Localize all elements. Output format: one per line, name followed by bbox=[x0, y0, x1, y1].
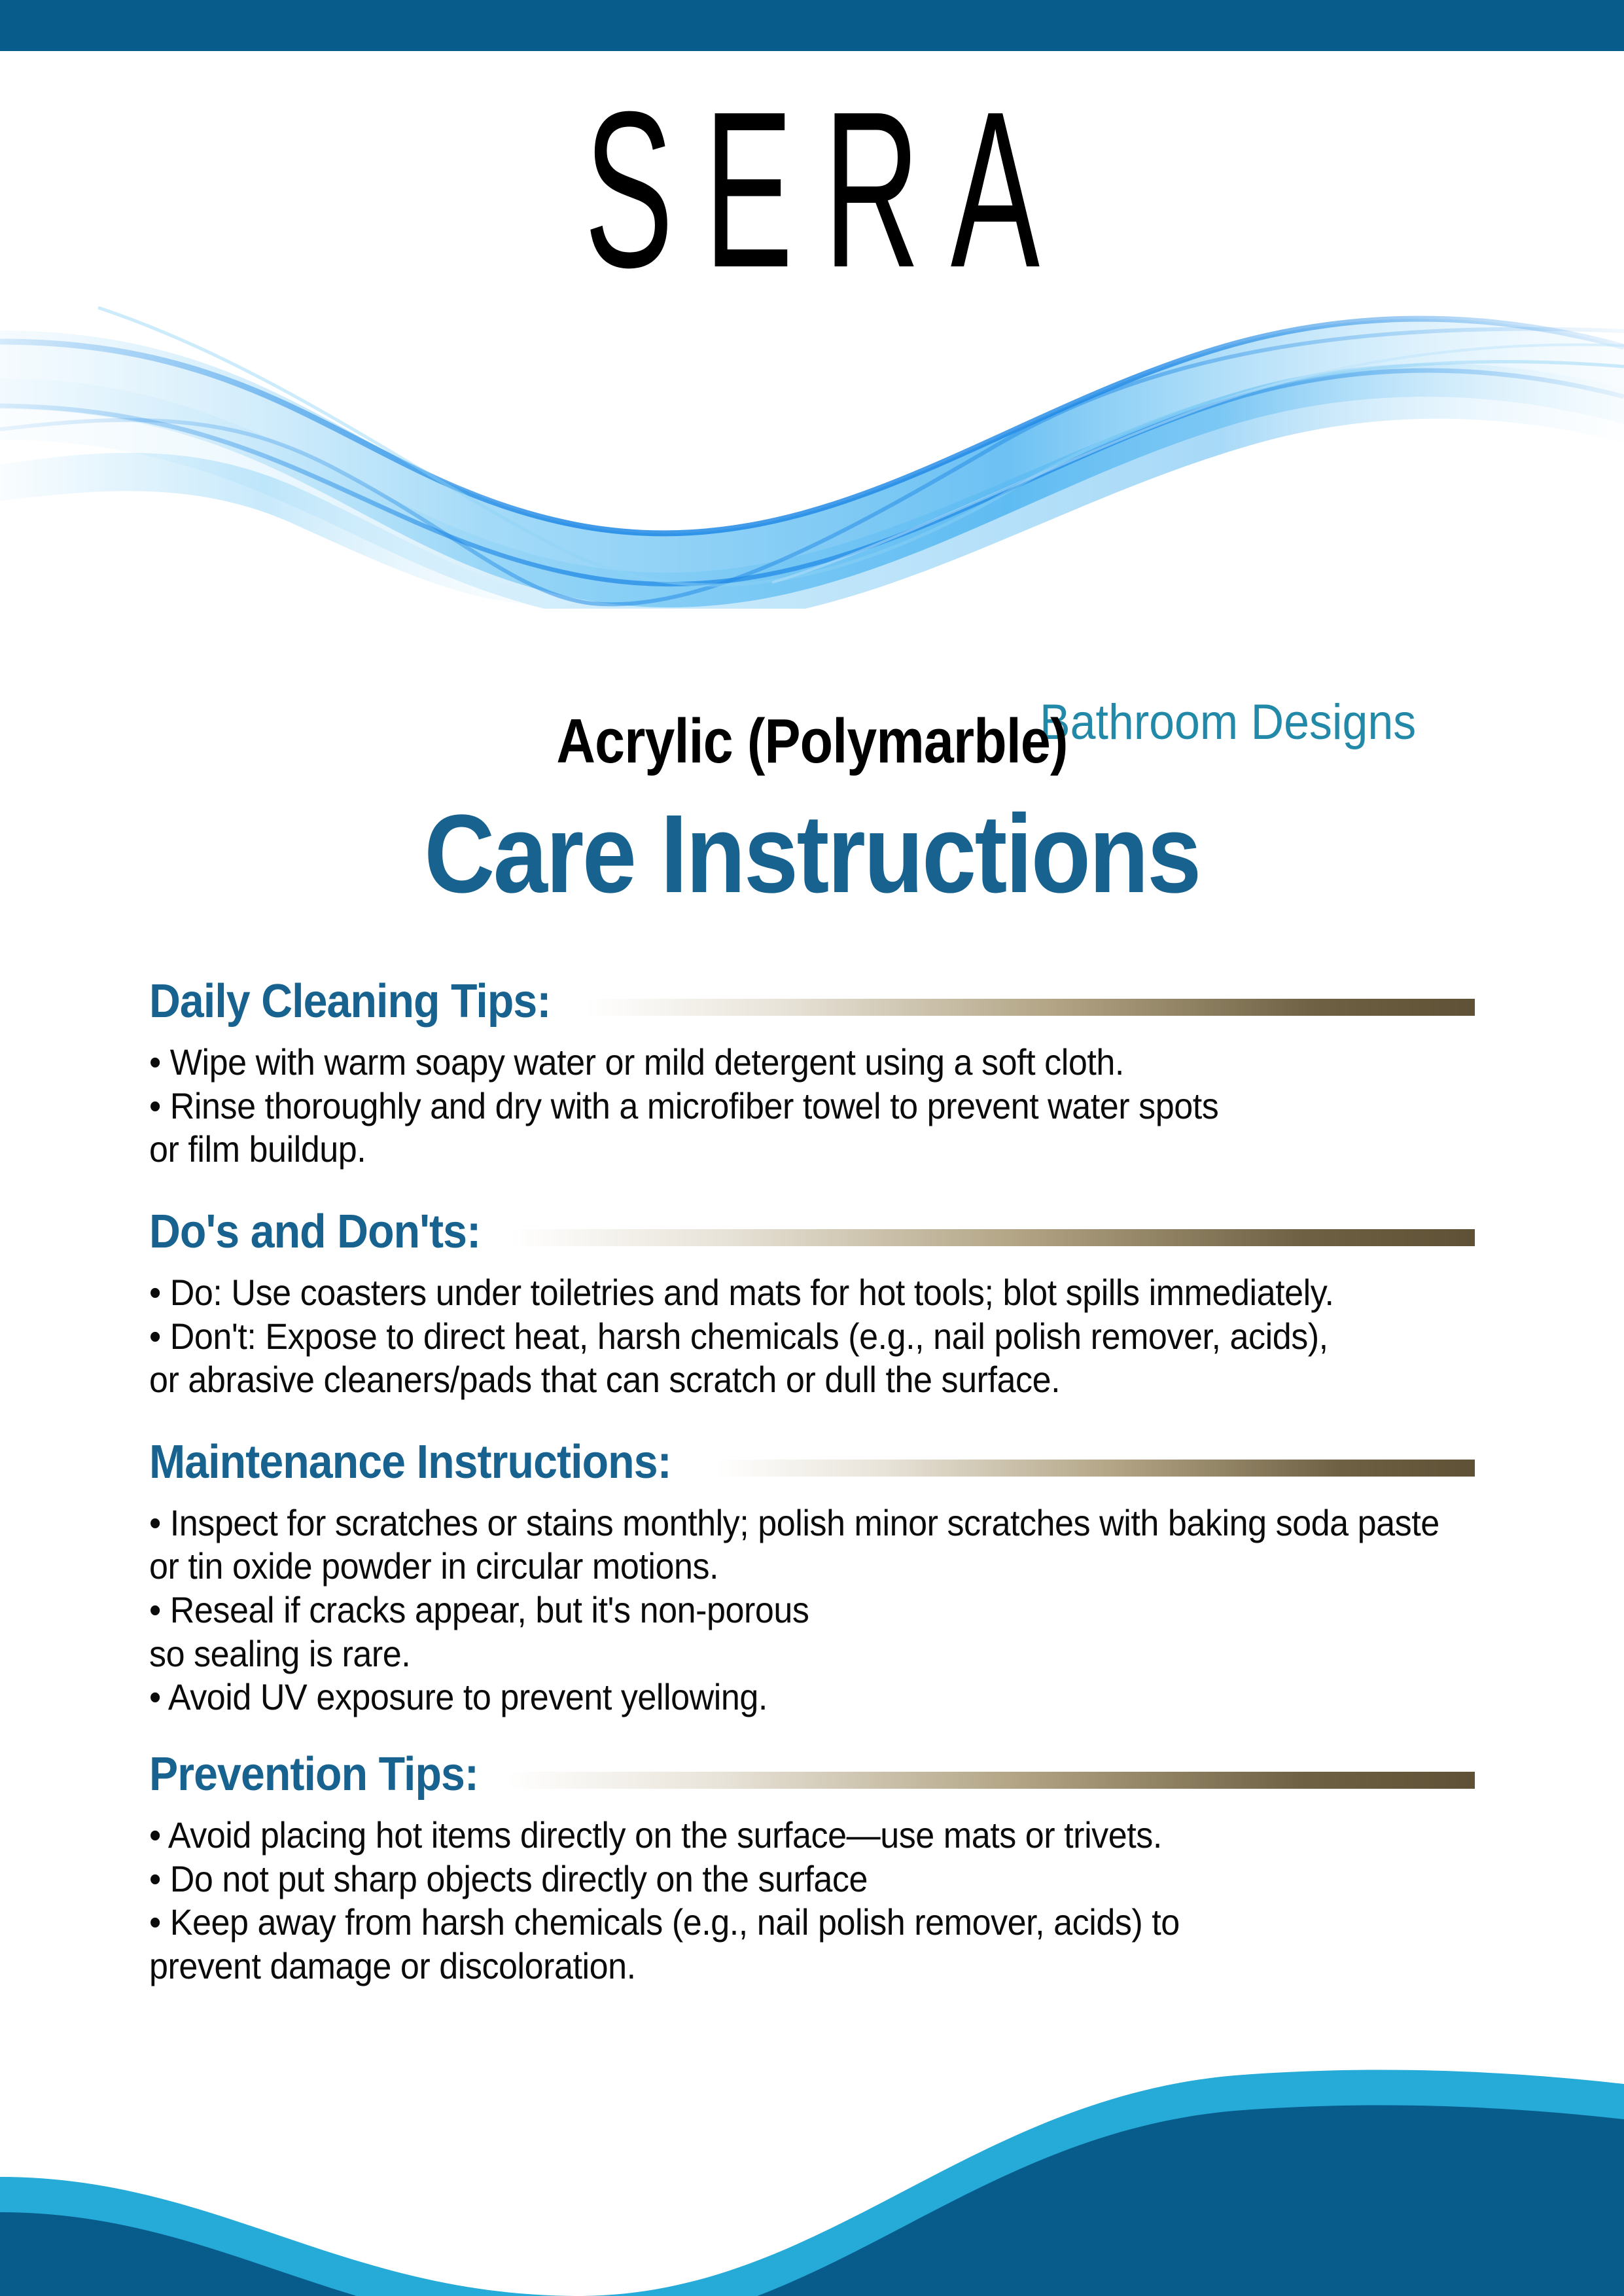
bullet-line: • Avoid UV exposure to prevent yellowing… bbox=[149, 1676, 1382, 1719]
bullet-list: • Do: Use coasters under toiletries and … bbox=[149, 1271, 1475, 1402]
wave-strand-5 bbox=[772, 345, 1624, 583]
section-rule bbox=[586, 999, 1475, 1016]
page-subtitle: Acrylic (Polymarble) bbox=[114, 706, 1511, 778]
spacer bbox=[149, 1402, 1475, 1436]
bullet-line: • Wipe with warm soapy water or mild det… bbox=[149, 1041, 1382, 1085]
wave-ribbon-left bbox=[0, 453, 589, 605]
section-maintenance-instructions: Maintenance Instructions: • Inspect for … bbox=[149, 1436, 1475, 1719]
bullet-line: • Don't: Expose to direct heat, harsh ch… bbox=[149, 1315, 1382, 1359]
care-instructions-content: Daily Cleaning Tips: • Wipe with warm so… bbox=[149, 975, 1475, 1988]
section-header: Do's and Don'ts: bbox=[149, 1206, 1475, 1255]
spacer bbox=[149, 1719, 1475, 1748]
page-title: Care Instructions bbox=[97, 798, 1527, 910]
bullet-line: • Rinse thoroughly and dry with a microf… bbox=[149, 1085, 1382, 1128]
bullet-line: prevent damage or discoloration. bbox=[149, 1945, 1382, 1988]
section-rule bbox=[716, 1460, 1475, 1477]
wave-strand-2 bbox=[0, 370, 1624, 584]
bullet-line: • Avoid placing hot items directly on th… bbox=[149, 1814, 1382, 1857]
decorative-wave-graphic bbox=[0, 268, 1624, 609]
bullet-list: • Inspect for scratches or stains monthl… bbox=[149, 1501, 1475, 1719]
section-header: Prevention Tips: bbox=[149, 1748, 1475, 1798]
wave-ribbon-secondary bbox=[0, 363, 1624, 609]
bullet-line: • Inspect for scratches or stains monthl… bbox=[149, 1501, 1382, 1545]
bullet-line: • Do not put sharp objects directly on t… bbox=[149, 1857, 1382, 1901]
wave-ribbon-primary bbox=[0, 319, 1624, 607]
bullet-line: • Do: Use coasters under toiletries and … bbox=[149, 1271, 1382, 1315]
bullet-list: • Wipe with warm soapy water or mild det… bbox=[149, 1041, 1475, 1172]
brand-wordmark: SERA bbox=[325, 79, 1299, 301]
spacer bbox=[149, 1172, 1475, 1206]
bullet-line: or film buildup. bbox=[149, 1128, 1382, 1172]
section-header: Daily Cleaning Tips: bbox=[149, 975, 1475, 1025]
wave-strand-4 bbox=[98, 308, 1624, 585]
bullet-line: or abrasive cleaners/pads that can scrat… bbox=[149, 1358, 1382, 1402]
section-prevention-tips: Prevention Tips: • Avoid placing hot ite… bbox=[149, 1748, 1475, 1988]
top-accent-bar bbox=[0, 0, 1624, 51]
footer-wave-graphic bbox=[0, 2021, 1624, 2296]
bullet-list: • Avoid placing hot items directly on th… bbox=[149, 1814, 1475, 1988]
section-header: Maintenance Instructions: bbox=[149, 1436, 1475, 1486]
wave-strand-3 bbox=[0, 329, 1624, 605]
section-rule bbox=[509, 1229, 1475, 1246]
section-title: Maintenance Instructions: bbox=[149, 1439, 671, 1486]
section-title: Prevention Tips: bbox=[149, 1751, 478, 1798]
bullet-line: • Keep away from harsh chemicals (e.g., … bbox=[149, 1901, 1382, 1945]
bullet-line: so sealing is rare. bbox=[149, 1632, 1382, 1676]
section-rule bbox=[507, 1772, 1475, 1789]
section-title: Do's and Don'ts: bbox=[149, 1208, 480, 1255]
section-daily-cleaning-tips: Daily Cleaning Tips: • Wipe with warm so… bbox=[149, 975, 1475, 1172]
section-title: Daily Cleaning Tips: bbox=[149, 978, 550, 1025]
section-dos-and-donts: Do's and Don'ts: • Do: Use coasters unde… bbox=[149, 1206, 1475, 1402]
bullet-line: • Reseal if cracks appear, but it's non-… bbox=[149, 1588, 1382, 1632]
brand-logo-block: SERA bbox=[0, 79, 1624, 655]
wave-strand-1 bbox=[0, 319, 1624, 533]
bullet-line: or tin oxide powder in circular motions. bbox=[149, 1545, 1382, 1588]
